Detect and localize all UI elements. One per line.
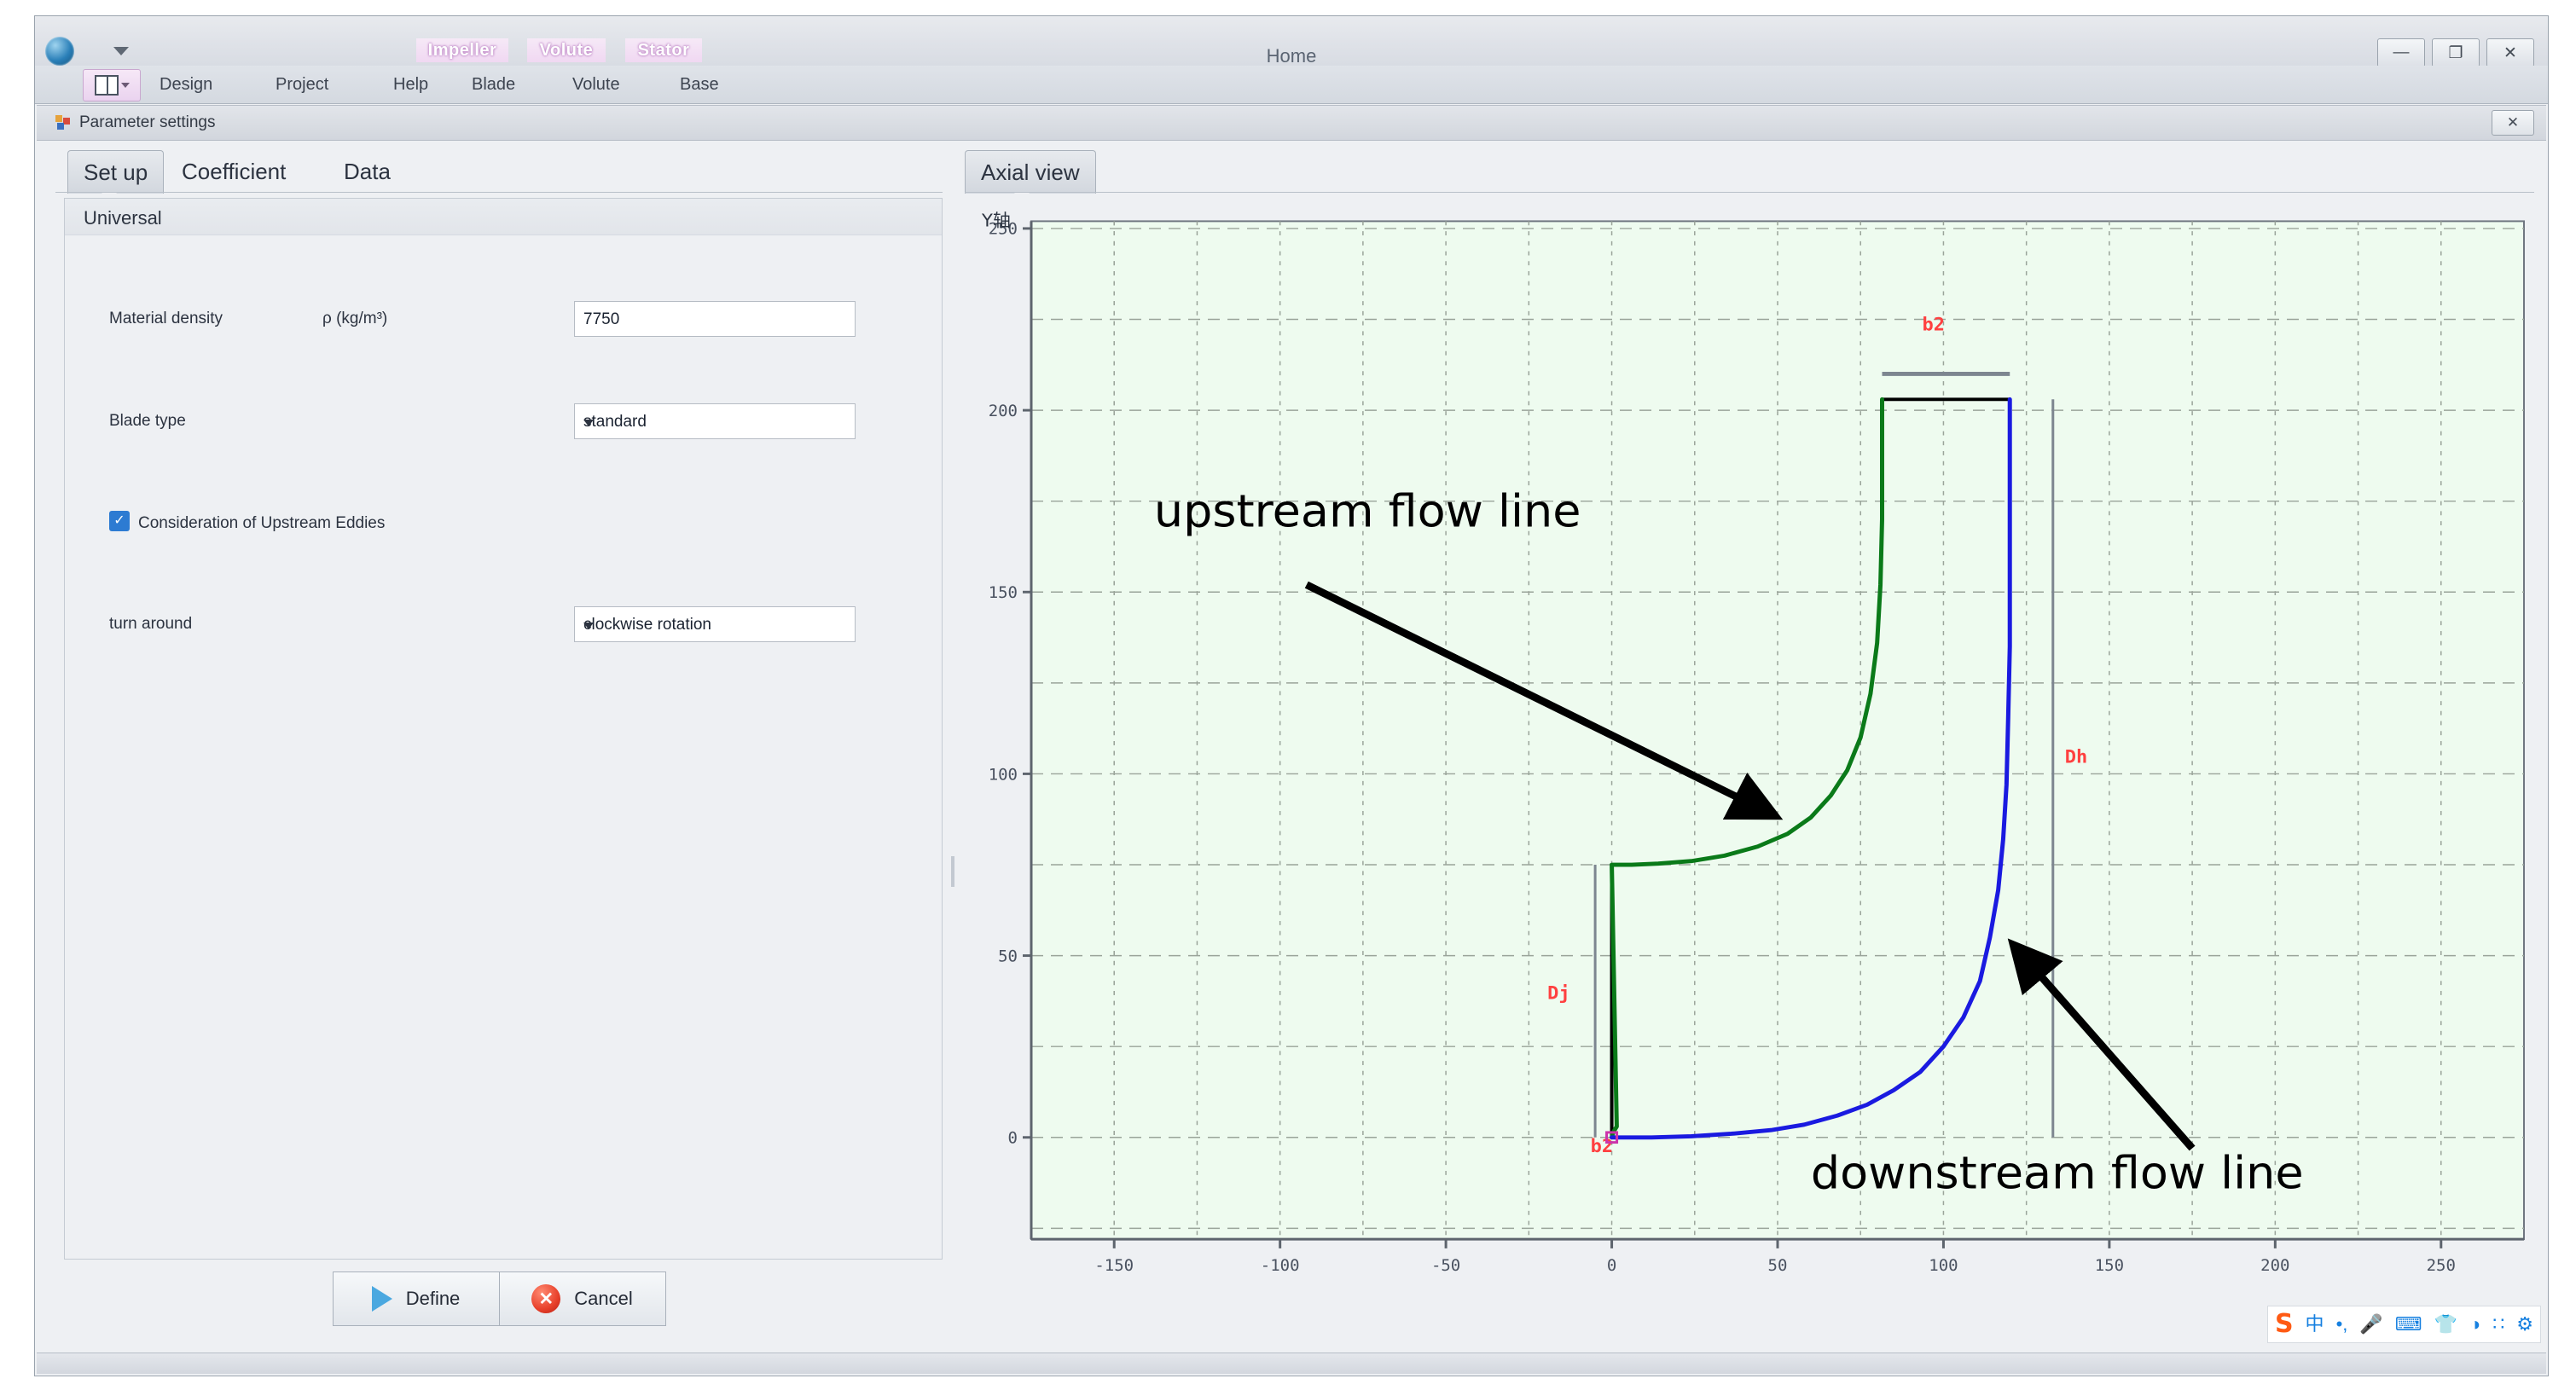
ime-microphone-icon[interactable]: 🎤	[2359, 1315, 2382, 1334]
tab-axial-view[interactable]: Axial view	[965, 150, 1096, 194]
chevron-down-icon	[583, 623, 594, 629]
field-row-upstream-eddies[interactable]: Consideration of Upstream Eddies	[109, 504, 908, 542]
upstream-eddies-label: Consideration of Upstream Eddies	[138, 514, 385, 533]
parameter-settings-title-bar: Parameter settings ✕	[37, 106, 2546, 141]
field-row-turn-around: turn around clockwise rotation	[109, 606, 908, 644]
dimension-label-b2: b2	[1591, 1136, 1613, 1157]
material-density-label: Material density	[109, 310, 223, 328]
tab-coefficient[interactable]: Coefficient	[166, 150, 301, 193]
ribbon-tab-blade[interactable]: Blade	[472, 71, 515, 98]
ime-soft-keyboard-icon[interactable]: ⌨	[2395, 1315, 2422, 1334]
minimize-button[interactable]: —	[2377, 38, 2425, 67]
parameter-settings-window: Parameter settings ✕ Set up Coefficient …	[37, 105, 2546, 1374]
cancel-button-label: Cancel	[574, 1288, 632, 1310]
ime-chinese-mode-icon[interactable]: 中	[2306, 1315, 2324, 1334]
blade-type-select[interactable]: standard	[574, 403, 856, 439]
x-axis-tick-label: -150	[1094, 1257, 1134, 1275]
close-button[interactable]: ✕	[2486, 38, 2534, 67]
universal-group-box: Universal Material density ρ (kg/m³) 775…	[64, 198, 943, 1260]
parameter-settings-close-button[interactable]: ✕	[2492, 110, 2534, 136]
y-axis-tick-label: 200	[989, 403, 1018, 420]
parameter-settings-title: Parameter settings	[79, 113, 215, 132]
status-bar	[37, 1353, 2546, 1374]
window-controls: — ❐ ✕	[2377, 38, 2534, 67]
material-density-symbol: ρ (kg/m³)	[322, 310, 387, 328]
define-button-label: Define	[406, 1288, 461, 1310]
material-density-value: 7750	[583, 310, 619, 329]
ribbon-group-impeller: Impeller	[416, 38, 508, 62]
universal-group-header	[65, 199, 942, 235]
tab-data[interactable]: Data	[328, 150, 406, 193]
y-axis-title: Y轴	[981, 210, 1011, 230]
ime-robot-icon[interactable]: ◑	[2469, 1315, 2480, 1334]
parameter-settings-icon	[55, 115, 71, 130]
field-row-material-density: Material density ρ (kg/m³) 7750	[109, 301, 908, 339]
dimension-label-Dj: Dj	[1547, 983, 1569, 1005]
x-axis-tick-label: 150	[2095, 1257, 2124, 1275]
field-row-blade-type: Blade type standard	[109, 403, 908, 441]
ime-apps-icon[interactable]: ∷	[2492, 1315, 2504, 1334]
dimension-label-Dh: Dh	[2065, 747, 2087, 768]
turn-around-select[interactable]: clockwise rotation	[574, 606, 856, 642]
application-window: Home Impeller Volute Stator — ❐ ✕ ⌵ Desi…	[34, 15, 2549, 1376]
ribbon-tab-project[interactable]: Project	[276, 71, 328, 98]
cancel-icon: ✕	[531, 1284, 560, 1313]
tab-set-up[interactable]: Set up	[67, 150, 164, 194]
restore-button[interactable]: ❐	[2432, 38, 2480, 67]
annotation-label: upstream flow line	[1154, 484, 1581, 537]
view-toggle-button[interactable]	[83, 69, 141, 101]
x-axis-tick-label: -100	[1261, 1257, 1300, 1275]
ribbon-tab-design[interactable]: Design	[160, 71, 212, 98]
left-settings-panel: Set up Coefficient Data Universal Materi…	[55, 150, 943, 1362]
turn-around-label: turn around	[109, 615, 192, 634]
upstream-eddies-checkbox[interactable]	[109, 511, 130, 531]
x-axis-tick-label: 100	[1929, 1257, 1958, 1275]
play-icon	[372, 1286, 392, 1312]
dialog-button-row: Define ✕ Cancel	[55, 1271, 943, 1326]
ribbon-group-stator: Stator	[625, 38, 702, 62]
turn-around-value: clockwise rotation	[583, 616, 711, 634]
y-axis-tick-label: 50	[998, 948, 1018, 966]
panel-splitter-handle[interactable]	[951, 856, 954, 887]
panel-layout-icon	[95, 75, 119, 96]
ime-punctuation-icon[interactable]: •,	[2336, 1315, 2348, 1334]
ime-settings-gear-icon[interactable]: ⚙	[2516, 1315, 2533, 1334]
x-axis-tick-label: 0	[1607, 1257, 1616, 1275]
axial-view-plot: 050100150200250Y轴-150-100-50050100150200…	[965, 200, 2534, 1316]
cancel-button[interactable]: ✕ Cancel	[500, 1271, 666, 1326]
sogou-ime-toolbar[interactable]: S 中 •, 🎤 ⌨ 👕 ◑ ∷ ⚙	[2267, 1306, 2541, 1343]
ribbon-tab-volute[interactable]: Volute	[572, 71, 620, 98]
ime-skin-icon[interactable]: 👕	[2434, 1315, 2457, 1334]
axial-view-chart[interactable]: 050100150200250Y轴-150-100-50050100150200…	[965, 200, 2534, 1316]
x-axis-tick-label: 250	[2427, 1257, 2456, 1275]
x-axis-tick-label: -50	[1431, 1257, 1460, 1275]
chevron-down-icon	[583, 420, 594, 426]
annotation-label: downstream flow line	[1811, 1146, 2304, 1199]
y-axis-tick-label: 150	[989, 584, 1018, 602]
sogou-logo-icon[interactable]: S	[2275, 1312, 2294, 1337]
right-view-panel: Axial view 050100150200250Y轴-150-100-500…	[965, 150, 2534, 1362]
y-axis-tick-label: 100	[989, 766, 1018, 784]
x-axis-tick-label: 200	[2260, 1257, 2289, 1275]
universal-group-title: Universal	[84, 207, 162, 229]
define-button[interactable]: Define	[333, 1271, 500, 1326]
view-tab-strip: Axial view	[965, 150, 2534, 193]
settings-tab-strip: Set up Coefficient Data	[55, 150, 943, 193]
window-title: Home	[35, 45, 2548, 67]
x-axis-tick-label: 50	[1768, 1257, 1788, 1275]
ribbon-tab-base[interactable]: Base	[680, 71, 719, 98]
chevron-down-icon	[121, 83, 130, 88]
ribbon-group-volute: Volute	[527, 38, 606, 62]
dimension-label-b2: b2	[1923, 315, 1945, 336]
blade-type-label: Blade type	[109, 412, 186, 431]
material-density-input[interactable]: 7750	[574, 301, 856, 337]
y-axis-tick-label: 0	[1008, 1130, 1018, 1148]
ribbon-tab-help[interactable]: Help	[393, 71, 428, 98]
title-bar: Home Impeller Volute Stator — ❐ ✕	[35, 16, 2548, 69]
